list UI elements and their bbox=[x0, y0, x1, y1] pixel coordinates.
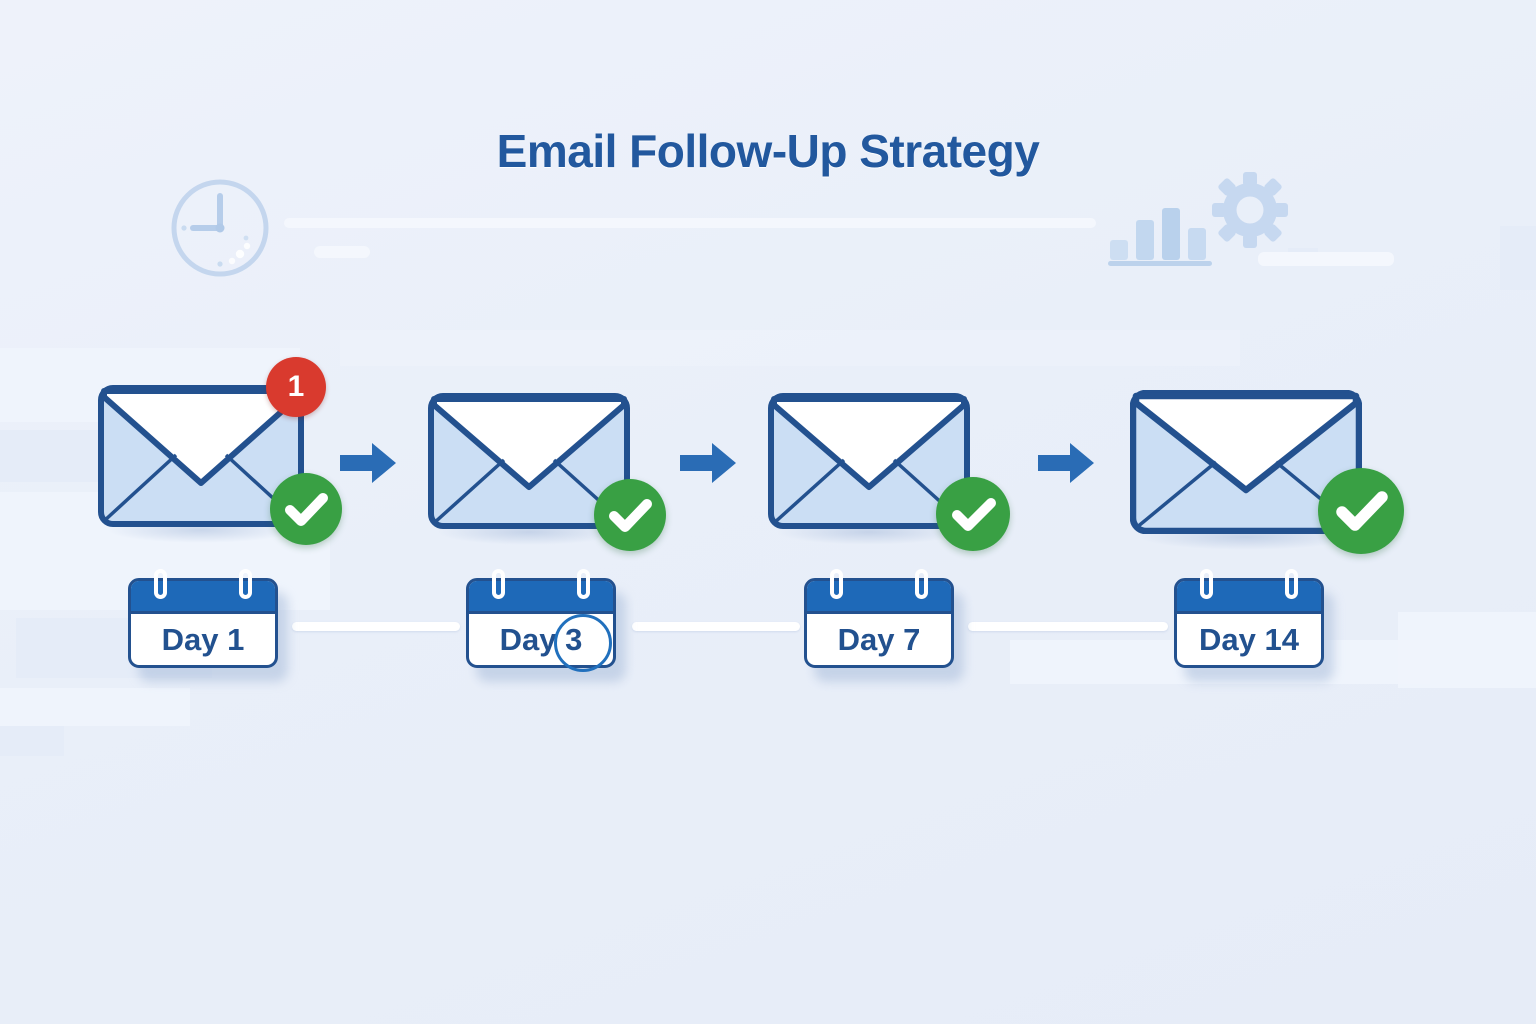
decor-line-long bbox=[284, 218, 1096, 228]
calendar-ring-icon bbox=[154, 569, 167, 599]
bg-block bbox=[340, 330, 1240, 366]
calendar-ring-icon bbox=[577, 569, 590, 599]
calendar-ring-icon bbox=[1285, 569, 1298, 599]
bg-block bbox=[0, 726, 64, 756]
calendar-body: Day 7 bbox=[804, 578, 954, 668]
calendar-ring-icon bbox=[1200, 569, 1213, 599]
gear-icon bbox=[1212, 172, 1288, 248]
calendar-day-label: Day 14 bbox=[1177, 614, 1321, 665]
calendar-card-day-3[interactable]: Day 3 bbox=[466, 578, 616, 668]
arrow-right-icon bbox=[1036, 440, 1096, 486]
envelope-step-2[interactable] bbox=[428, 393, 630, 529]
timeline-connector bbox=[632, 622, 800, 631]
unread-badge: 1 bbox=[266, 357, 326, 417]
unread-badge-count: 1 bbox=[288, 372, 305, 402]
calendar-body: Day 1 bbox=[128, 578, 278, 668]
calendar-ring-icon bbox=[492, 569, 505, 599]
calendar-header-bar bbox=[131, 581, 275, 614]
calendar-ring-icon bbox=[915, 569, 928, 599]
envelope-step-1[interactable]: 1 bbox=[98, 385, 304, 527]
page-title: Email Follow-Up Strategy bbox=[0, 124, 1536, 178]
arrow-right-icon bbox=[338, 440, 398, 486]
envelope-step-3[interactable] bbox=[768, 393, 970, 529]
calendar-day-label: Day 7 bbox=[807, 614, 951, 665]
decor-line-short bbox=[314, 246, 370, 258]
arrow-right-icon bbox=[678, 440, 738, 486]
calendar-card-day-7[interactable]: Day 7 bbox=[804, 578, 954, 668]
timeline-connector bbox=[292, 622, 460, 631]
bg-block bbox=[0, 688, 190, 726]
bg-block bbox=[1398, 612, 1536, 688]
decor-line-right bbox=[1258, 252, 1394, 266]
calendar-ring-icon bbox=[830, 569, 843, 599]
clock-icon bbox=[168, 176, 272, 280]
calendar-header-bar bbox=[469, 581, 613, 614]
calendar-day-label: Day 3 bbox=[469, 614, 613, 665]
calendar-card-day-1[interactable]: Day 1 bbox=[128, 578, 278, 668]
calendar-day-label: Day 1 bbox=[131, 614, 275, 665]
bg-block bbox=[1500, 226, 1536, 290]
check-circle-icon bbox=[936, 477, 1010, 551]
envelope-step-4[interactable] bbox=[1130, 390, 1362, 534]
check-circle-icon bbox=[1318, 468, 1404, 554]
calendar-card-day-14[interactable]: Day 14 bbox=[1174, 578, 1324, 668]
check-circle-icon bbox=[594, 479, 666, 551]
calendar-body: Day 14 bbox=[1174, 578, 1324, 668]
calendar-header-bar bbox=[807, 581, 951, 614]
infographic-canvas: Email Follow-Up Strategy 1 bbox=[0, 0, 1536, 1024]
timeline-connector bbox=[968, 622, 1168, 631]
calendar-header-bar bbox=[1177, 581, 1321, 614]
calendar-body: Day 3 bbox=[466, 578, 616, 668]
bar-chart-icon bbox=[1108, 196, 1218, 266]
calendar-ring-icon bbox=[239, 569, 252, 599]
check-circle-icon bbox=[270, 473, 342, 545]
